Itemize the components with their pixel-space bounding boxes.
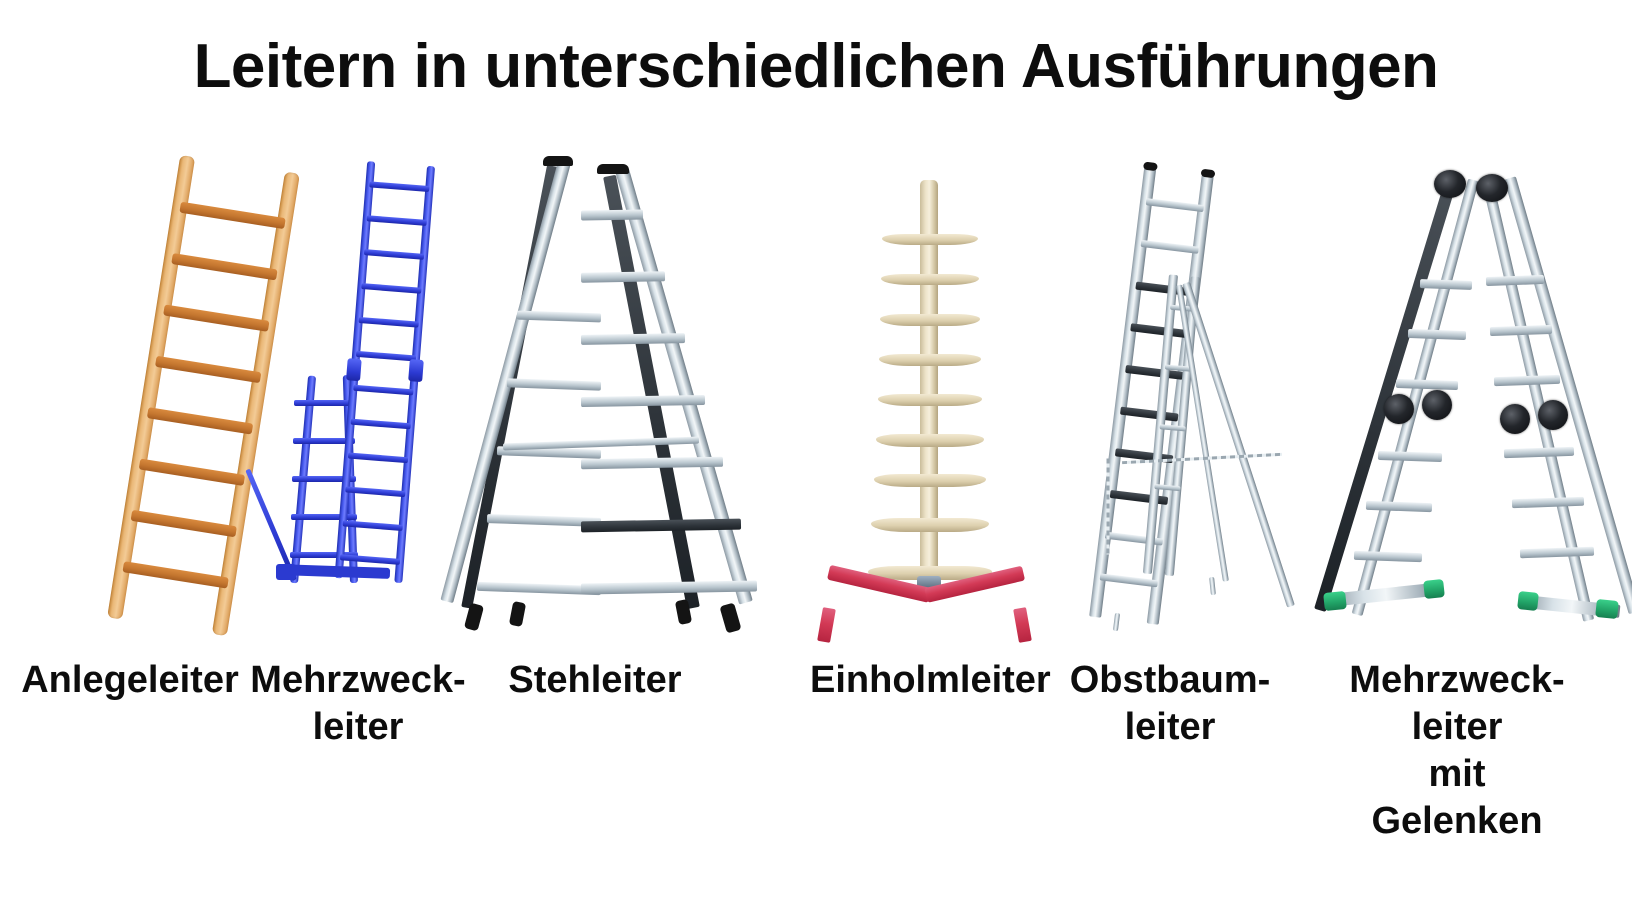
ladder-rail-left (107, 155, 195, 620)
front-rung (367, 215, 427, 226)
left-rung (1354, 551, 1422, 562)
stabilizer-foot (276, 564, 296, 580)
front-rung (361, 283, 421, 294)
caption-line: Mehrzweck- (248, 657, 468, 704)
caption-line: Einholmleiter (810, 657, 1040, 704)
hinge-right-inner (1500, 404, 1530, 434)
left-rung (1396, 379, 1458, 390)
ladder-rung (147, 407, 253, 434)
front-rung (359, 317, 419, 328)
right-rung (1490, 325, 1552, 336)
hinge-left-outer (1384, 394, 1414, 424)
pole-step (879, 354, 981, 366)
ladder-rung (122, 561, 228, 588)
left-foot-cap (509, 601, 526, 627)
right-rung (1504, 447, 1574, 458)
safety-chain-drop (1107, 459, 1110, 555)
caption-einholmleiter: Einholmleiter (810, 657, 1040, 704)
pole-step (874, 474, 986, 487)
left-foot-cap-inner (1423, 579, 1445, 599)
right-step (581, 333, 685, 345)
caption-obstbaumleiter: Obstbaum- leiter (1060, 657, 1280, 751)
figure-einholmleiter (820, 180, 1030, 630)
ladder-rung (131, 510, 237, 537)
ladder-rung (163, 304, 269, 331)
figure-stehleiter (455, 152, 765, 622)
top-cap-left (543, 156, 573, 166)
caption-line: leiter (1060, 704, 1280, 751)
base-tip-left (817, 607, 836, 643)
pole-step (878, 394, 982, 406)
pole-step (881, 274, 979, 285)
front-rung (356, 351, 416, 362)
pole-step (876, 434, 984, 447)
front-rung (348, 453, 408, 464)
right-step (581, 580, 757, 594)
left-foot-cap-outer (1323, 591, 1347, 611)
ladder-rung (139, 458, 245, 485)
right-rung (1494, 375, 1560, 386)
front-rung (340, 554, 400, 565)
top-cap-right (597, 164, 629, 174)
left-rung (1420, 279, 1472, 290)
front-rung (353, 385, 413, 396)
caption-line: Anlegeleiter (10, 657, 250, 704)
front-rung (351, 419, 411, 430)
left-rung (1366, 501, 1432, 512)
hinge-bracket-right (408, 359, 424, 382)
caption-mehrzweckleiter: Mehrzweck- leiter (248, 657, 468, 751)
caption-line: Gelenken (1312, 798, 1602, 845)
caption-line: leiter (248, 704, 468, 751)
caption-line: Obstbaum- (1060, 657, 1280, 704)
front-rung (364, 249, 424, 260)
figure-anlegeleiter (60, 150, 290, 630)
hinge-top-left (1434, 170, 1466, 198)
front-rung (345, 486, 405, 497)
caption-anlegeleiter: Anlegeleiter (10, 657, 250, 704)
front-rung (369, 181, 429, 192)
pole-step (880, 314, 980, 326)
caption-line: Stehleiter (480, 657, 710, 704)
right-rung (1512, 497, 1584, 509)
figure-mehrzweckleiter-gelenke (1300, 168, 1620, 630)
right-foot-cap (719, 602, 741, 633)
front-rung (343, 520, 403, 531)
figure-obstbaumleiter (1030, 165, 1290, 630)
ground-spike-left (1113, 613, 1120, 631)
page-title: Leitern in unterschiedlichen Ausführunge… (0, 36, 1632, 98)
caption-line: Mehrzweck- (1312, 657, 1602, 704)
hinge-top-right (1476, 174, 1508, 202)
right-foot-cap-inner (1517, 591, 1539, 611)
caption-mehrzweckleiter-gelenke: Mehrzweck- leiter mit Gelenken (1312, 657, 1602, 845)
pole-step (871, 518, 989, 532)
spreader-brace (503, 437, 699, 451)
left-step (507, 378, 601, 390)
ladder-rung (179, 202, 285, 229)
right-step (581, 209, 643, 220)
hinge-left-inner (1422, 390, 1452, 420)
ladder-rung (155, 356, 261, 383)
hinge-right-outer (1538, 400, 1568, 430)
hinge-bracket-left (346, 358, 362, 381)
right-rung (1520, 547, 1594, 559)
right-step (581, 271, 665, 282)
caption-line: leiter (1312, 704, 1602, 751)
left-step (517, 311, 601, 323)
left-rung (1378, 451, 1442, 462)
ladder-rung (171, 253, 277, 280)
figure-mehrzweckleiter (272, 160, 452, 585)
left-rung (1408, 329, 1466, 340)
caption-stehleiter: Stehleiter (480, 657, 710, 704)
right-foot-cap-outer (1595, 599, 1619, 619)
caption-line: mit (1312, 751, 1602, 798)
pole-step (882, 234, 978, 245)
